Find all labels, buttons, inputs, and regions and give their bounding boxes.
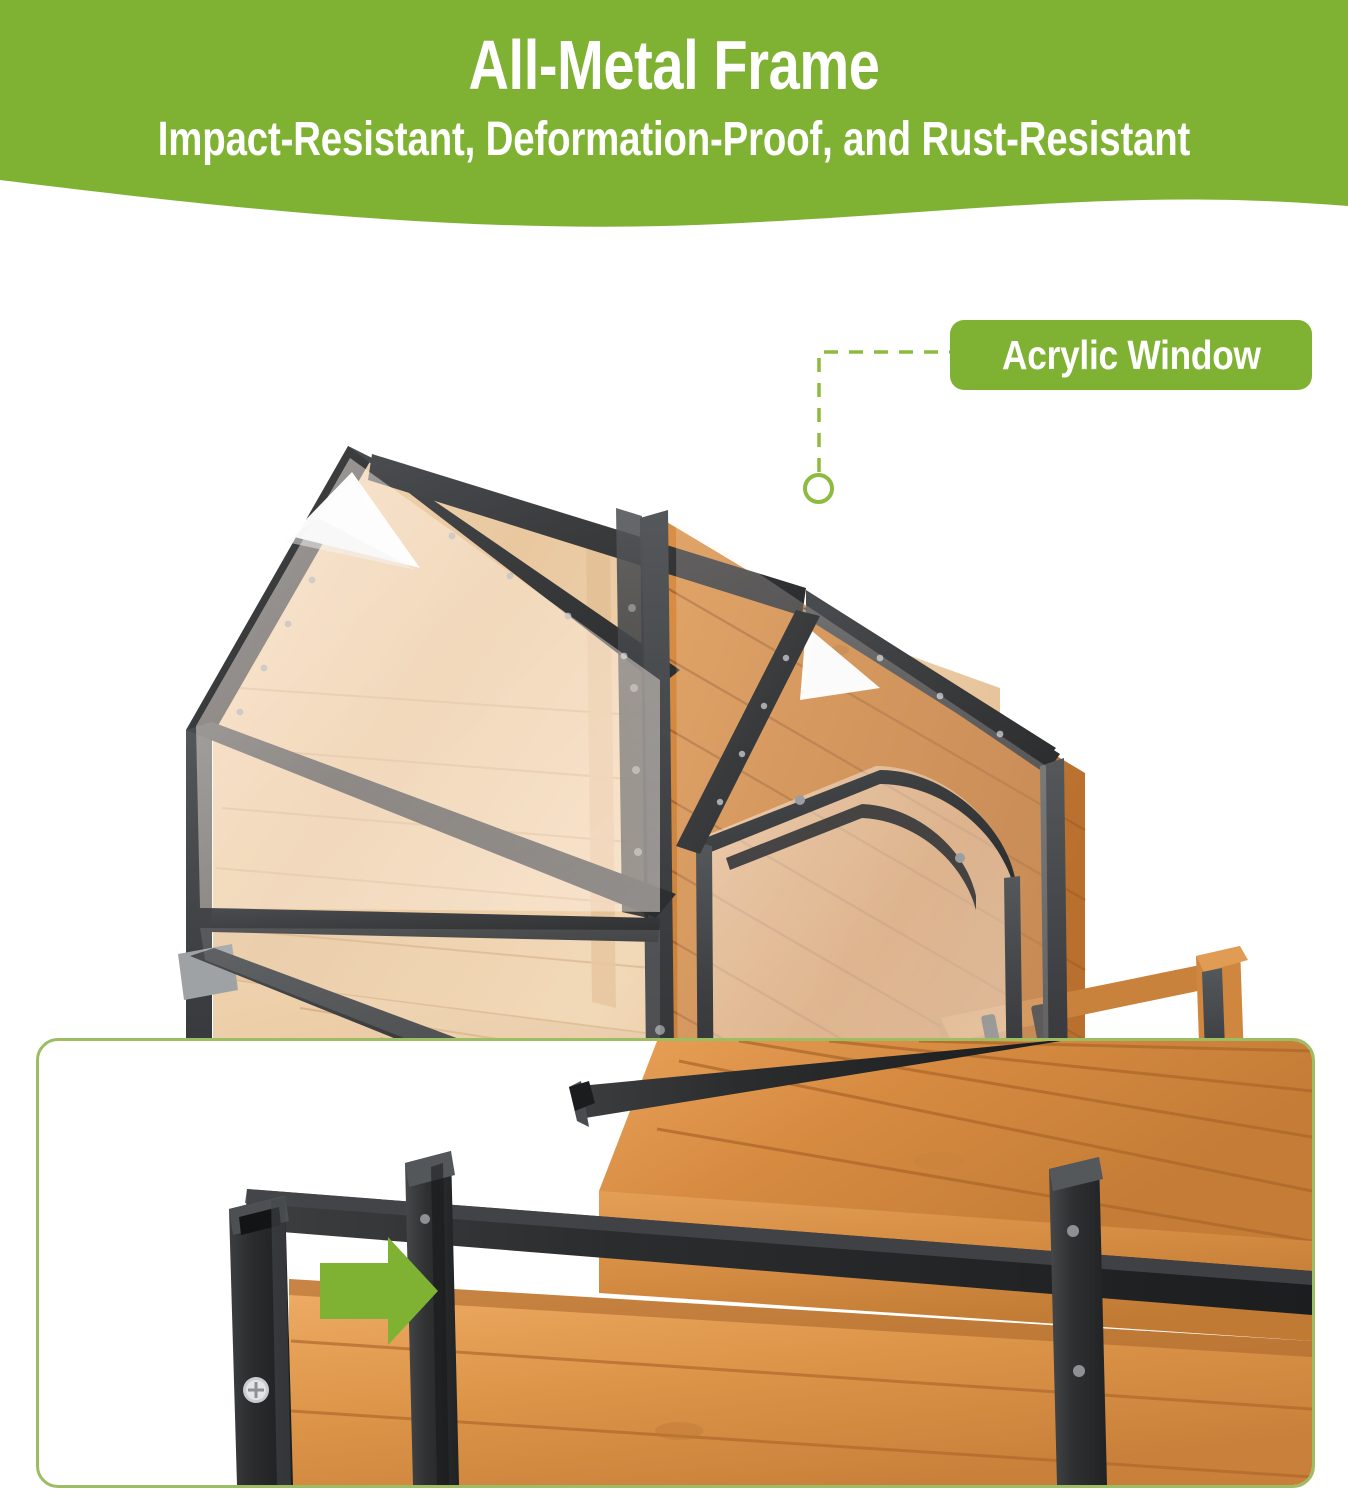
- metal-post-detail-illustration: [39, 1041, 1312, 1485]
- header-banner: All-Metal Frame Impact-Resistant, Deform…: [0, 0, 1348, 232]
- callout-acrylic-window[interactable]: Acrylic Window: [950, 320, 1312, 390]
- banner-background-shape: [0, 0, 1348, 232]
- post-installed-target: [405, 1151, 459, 1485]
- acrylic-window-marker-icon: [803, 473, 834, 504]
- infographic-page: All-Metal Frame Impact-Resistant, Deform…: [0, 0, 1348, 1500]
- screw-head-icon: [243, 1377, 269, 1403]
- detail-panel: [36, 1038, 1315, 1488]
- callout-label: Acrylic Window: [1002, 332, 1261, 379]
- loose-metal-post: [229, 1195, 293, 1485]
